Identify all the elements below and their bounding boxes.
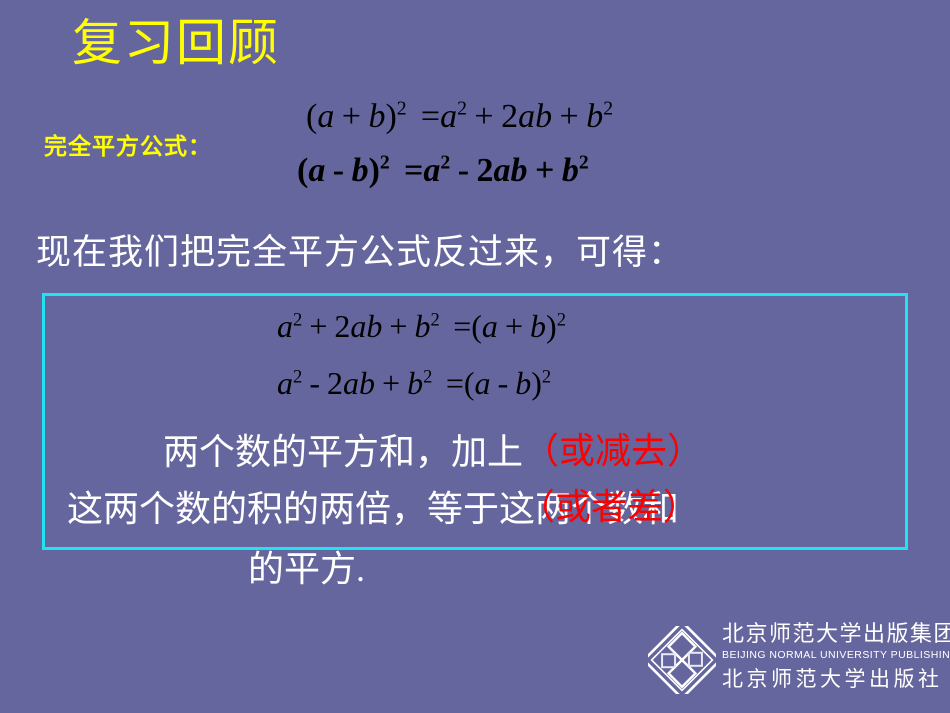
publisher-name-cn-group: 北京师范大学出版集团 <box>722 622 940 648</box>
publisher-logo: 北京师范大学出版集团 BEIJING NORMAL UNIVERSITY PUB… <box>648 622 940 702</box>
beq2-lhs-b-exponent: 2 <box>423 366 432 387</box>
beq1-rhs-a: a <box>482 308 498 344</box>
beq2-lhs-b: b <box>407 365 423 401</box>
publisher-emblem-icon <box>648 626 716 694</box>
annotation-or-difference: （或者差） <box>519 483 699 531</box>
eq2-rhs-ab: ab <box>494 152 528 189</box>
beq1-open-paren: ( <box>471 308 482 344</box>
eq2-rhs-b-exponent: 2 <box>579 152 589 174</box>
beq2-rhs-b: b <box>515 365 531 401</box>
beq1-lhs-a-exponent: 2 <box>293 309 302 330</box>
eq2-close-paren: ) <box>369 152 380 189</box>
eq1-rhs-ab: ab <box>518 98 552 135</box>
beq2-close-paren: ) <box>531 365 542 401</box>
eq1-open-paren: ( <box>306 98 317 135</box>
description-line-1: 两个数的平方和，加上 <box>163 428 523 476</box>
beq1-lhs-a: a <box>277 308 293 344</box>
beq1-lhs-op2: + <box>389 308 407 344</box>
description-line-3: 的平方. <box>248 545 365 593</box>
beq1-lhs-op1: + <box>309 308 327 344</box>
beq2-rhs-exponent: 2 <box>542 366 551 387</box>
eq1-rhs-a-exponent: 2 <box>457 98 467 120</box>
beq1-lhs-b: b <box>415 308 431 344</box>
beq1-close-paren: ) <box>546 308 557 344</box>
eq2-lhs-op: - <box>333 152 344 189</box>
beq2-lhs-op1: - <box>309 365 320 401</box>
formula-expand-minus: (a-b)2=a2-2ab+b2 <box>297 152 589 190</box>
factor-formula-plus: a2+2ab+b2=(a+b)2 <box>277 308 566 345</box>
eq1-lhs-exponent: 2 <box>397 98 407 120</box>
eq2-rhs-a: a <box>423 152 440 189</box>
beq2-open-paren: ( <box>464 365 475 401</box>
perfect-square-formula-label: 完全平方公式： <box>44 132 212 162</box>
eq1-rhs-op1: + <box>474 98 493 135</box>
page-title: 复习回顾 <box>72 14 280 72</box>
beq2-lhs-a-exponent: 2 <box>293 366 302 387</box>
eq1-rhs-b-exponent: 2 <box>603 98 613 120</box>
beq2-rhs-a: a <box>475 365 491 401</box>
eq1-lhs-b: b <box>368 98 385 135</box>
beq1-rhs-op: + <box>505 308 523 344</box>
eq2-rhs-op1: - <box>458 152 469 189</box>
eq1-equals: = <box>421 98 440 135</box>
eq1-lhs-op: + <box>342 98 361 135</box>
eq2-rhs-coefficient: 2 <box>477 152 494 189</box>
beq1-lhs-coefficient: 2 <box>334 308 350 344</box>
beq2-lhs-ab: ab <box>343 365 375 401</box>
annotation-or-subtract: （或减去） <box>523 427 703 475</box>
beq2-rhs-op: - <box>498 365 509 401</box>
eq2-lhs-b: b <box>352 152 369 189</box>
beq2-lhs-a: a <box>277 365 293 401</box>
beq2-lhs-coefficient: 2 <box>327 365 343 401</box>
beq1-lhs-b-exponent: 2 <box>431 309 440 330</box>
beq1-rhs-b: b <box>530 308 546 344</box>
publisher-logo-text: 北京师范大学出版集团 BEIJING NORMAL UNIVERSITY PUB… <box>722 622 940 693</box>
eq2-rhs-a-exponent: 2 <box>440 152 450 174</box>
slide-canvas: 复习回顾 完全平方公式： (a+b)2=a2+2ab+b2 (a-b)2=a2-… <box>0 0 950 713</box>
intro-sentence: 现在我们把完全平方公式反过来，可得： <box>36 230 684 276</box>
beq2-lhs-op2: + <box>382 365 400 401</box>
beq2-equals: = <box>446 365 464 401</box>
beq1-rhs-exponent: 2 <box>557 309 566 330</box>
eq2-lhs-a: a <box>308 152 325 189</box>
eq1-rhs-coefficient: 2 <box>501 98 518 135</box>
formula-expand-plus: (a+b)2=a2+2ab+b2 <box>306 98 613 136</box>
eq1-lhs-a: a <box>317 98 334 135</box>
eq1-rhs-b: b <box>586 98 603 135</box>
eq2-rhs-op2: + <box>535 152 554 189</box>
eq1-rhs-op2: + <box>560 98 579 135</box>
eq1-close-paren: ) <box>385 98 396 135</box>
eq2-lhs-exponent: 2 <box>380 152 390 174</box>
publisher-name-en: BEIJING NORMAL UNIVERSITY PUBLISHING GRO… <box>722 648 940 663</box>
eq2-open-paren: ( <box>297 152 308 189</box>
eq1-rhs-a: a <box>440 98 457 135</box>
publisher-name-cn-press: 北京师范大学出版社 <box>722 665 940 693</box>
eq2-equals: = <box>404 152 423 189</box>
beq1-equals: = <box>453 308 471 344</box>
factor-formula-minus: a2-2ab+b2=(a-b)2 <box>277 365 551 402</box>
eq2-rhs-b: b <box>562 152 579 189</box>
beq1-lhs-ab: ab <box>350 308 382 344</box>
